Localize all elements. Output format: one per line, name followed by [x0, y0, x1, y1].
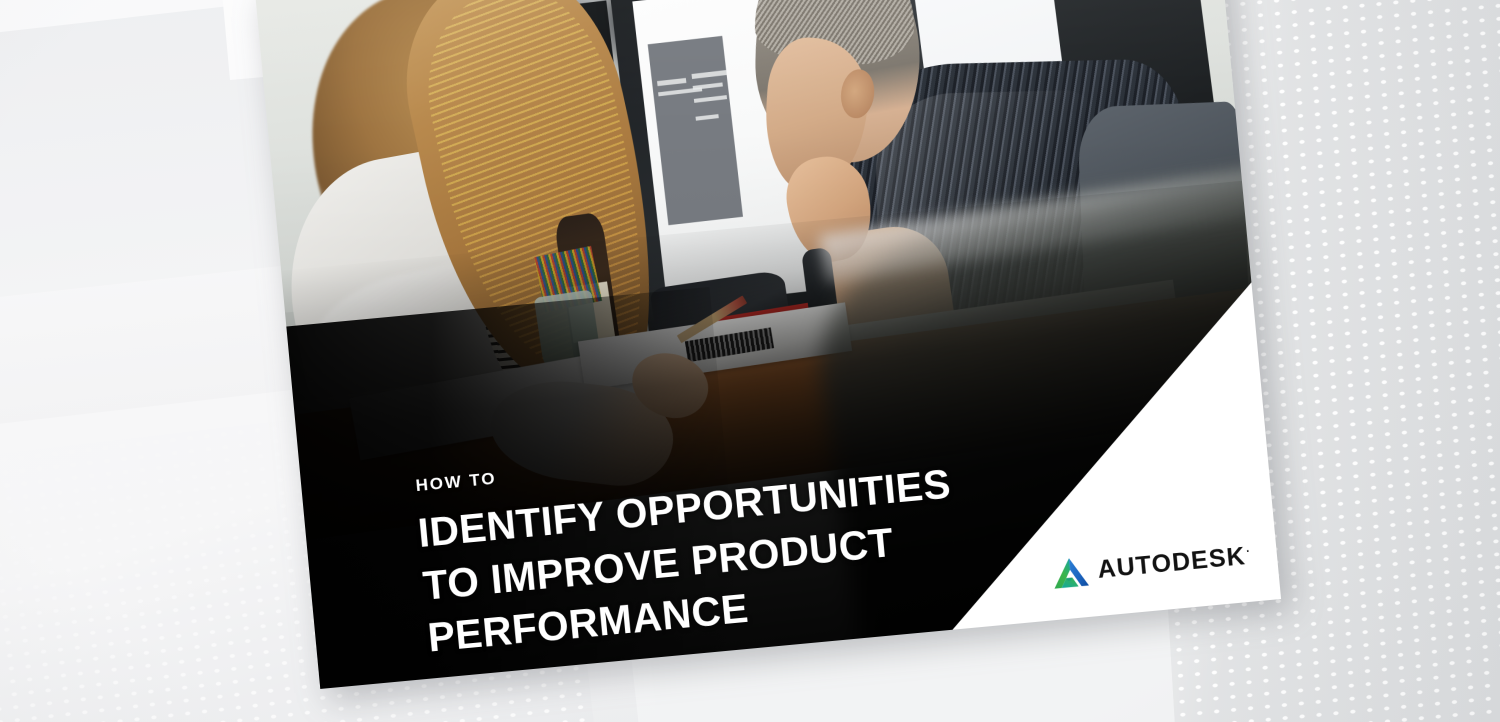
autodesk-trademark: . — [1245, 542, 1250, 554]
cover-card-surface: HOW TO IDENTIFY OPPORTUNITIES TO IMPROVE… — [255, 0, 1281, 689]
page-background: HOW TO IDENTIFY OPPORTUNITIES TO IMPROVE… — [0, 0, 1500, 722]
autodesk-logo[interactable]: AUTODESK. — [1051, 540, 1252, 590]
autodesk-a-logo-icon — [1051, 555, 1090, 590]
autodesk-wordmark-text: AUTODESK — [1096, 542, 1247, 584]
autodesk-wordmark: AUTODESK. — [1097, 543, 1253, 582]
ebook-cover-card[interactable]: HOW TO IDENTIFY OPPORTUNITIES TO IMPROVE… — [255, 0, 1281, 689]
